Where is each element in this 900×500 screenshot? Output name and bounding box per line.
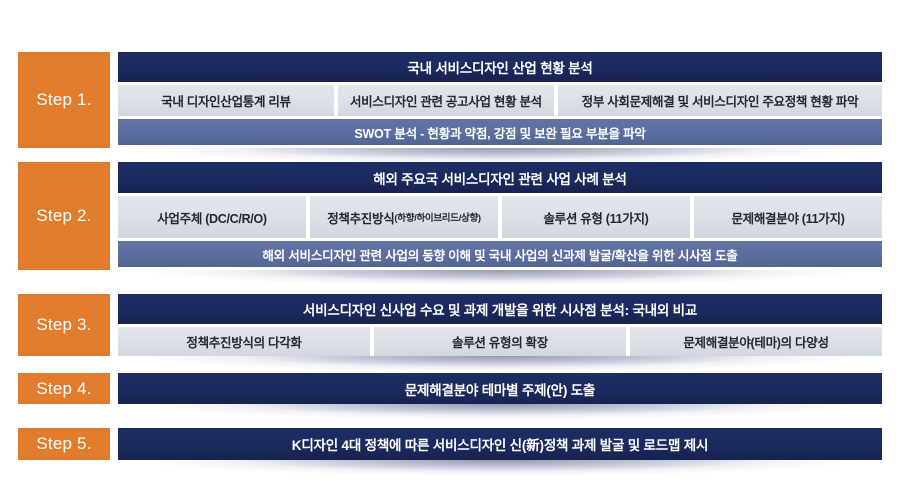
step-header-label-5-hanja: (新) (522, 434, 544, 454)
step-row-5: Step 5. K디자인 4대 정책에 따른 서비스디자인 신(新) 정책 과제… (0, 428, 900, 460)
step-header-label-2: 해외 주요국 서비스디자인 관련 사업 사례 분석 (373, 168, 626, 188)
step-cell-label: 사업주체 (DC/C/R/O) (157, 208, 267, 227)
step-header-label-1: 국내 서비스디자인 산업 현황 분석 (407, 57, 592, 77)
step-footer-label-1: SWOT 분석 - 현황과 약점, 강점 및 보완 필요 부분을 파악 (354, 123, 645, 142)
step-badge-label-1: Step 1. (36, 90, 91, 110)
step-cell-label: 정부 사회문제해결 및 서비스디자인 주요정책 현황 파악 (582, 91, 859, 110)
step-cell[interactable]: 문제해결분야 (11가지) (694, 196, 882, 238)
step-content-3: 서비스디자인 신사업 수요 및 과제 개발을 위한 시사점 분석: 국내외 비교… (118, 294, 882, 356)
group-shadow-2 (118, 270, 882, 292)
step-cell[interactable]: 정책추진방식의 다각화 (118, 327, 370, 356)
step-header-2[interactable]: 해외 주요국 서비스디자인 관련 사업 사례 분석 (118, 162, 882, 193)
step-row-1: Step 1. 국내 서비스디자인 산업 현황 분석 국내 디자인산업통계 리뷰… (0, 52, 900, 148)
step-cell-label: 솔루션 유형 (11가지) (543, 208, 648, 227)
process-diagram: Step 1. 국내 서비스디자인 산업 현황 분석 국내 디자인산업통계 리뷰… (0, 0, 900, 500)
step-row-2: Step 2. 해외 주요국 서비스디자인 관련 사업 사례 분석 사업주체 (… (0, 162, 900, 270)
step-cells-3: 정책추진방식의 다각화 솔루션 유형의 확장 문제해결분야(테마)의 다양성 (118, 327, 882, 356)
step-cell[interactable]: 솔루션 유형의 확장 (374, 327, 626, 356)
group-shadow-5 (118, 460, 882, 482)
step-badge-3[interactable]: Step 3. (18, 294, 110, 356)
step-cell[interactable]: 솔루션 유형 (11가지) (502, 196, 690, 238)
step-cell-label: 정책추진방식 (327, 208, 394, 227)
step-footer-2[interactable]: 해외 서비스디자인 관련 사업의 동향 이해 및 국내 사업의 신과제 발굴/확… (118, 241, 882, 267)
step-row-3: Step 3. 서비스디자인 신사업 수요 및 과제 개발을 위한 시사점 분석… (0, 294, 900, 356)
step-content-1: 국내 서비스디자인 산업 현황 분석 국내 디자인산업통계 리뷰 서비스디자인 … (118, 52, 882, 148)
step-header-4[interactable]: 문제해결분야 테마별 주제(안) 도출 (118, 373, 882, 404)
step-header-1[interactable]: 국내 서비스디자인 산업 현황 분석 (118, 52, 882, 82)
step-badge-2[interactable]: Step 2. (18, 162, 110, 270)
group-shadow-4 (118, 404, 882, 426)
step-content-5: K디자인 4대 정책에 따른 서비스디자인 신(新) 정책 과제 발굴 및 로드… (118, 428, 882, 460)
step-cell[interactable]: 서비스디자인 관련 공고사업 현황 분석 (338, 85, 554, 116)
step-content-4: 문제해결분야 테마별 주제(안) 도출 (118, 373, 882, 404)
step-cells-2: 사업주체 (DC/C/R/O) 정책추진방식(하향/하이브리드/상향) 솔루션 … (118, 196, 882, 238)
step-header-5[interactable]: K디자인 4대 정책에 따른 서비스디자인 신(新) 정책 과제 발굴 및 로드… (118, 428, 882, 460)
step-badge-label-2: Step 2. (36, 206, 91, 226)
step-cell[interactable]: 정책추진방식(하향/하이브리드/상향) (310, 196, 498, 238)
step-cell-sublabel: (하향/하이브리드/상향) (394, 210, 480, 224)
step-content-2: 해외 주요국 서비스디자인 관련 사업 사례 분석 사업주체 (DC/C/R/O… (118, 162, 882, 270)
step-cell[interactable]: 문제해결분야(테마)의 다양성 (630, 327, 882, 356)
step-badge-label-5: Step 5. (36, 434, 91, 454)
step-footer-1[interactable]: SWOT 분석 - 현황과 약점, 강점 및 보완 필요 부분을 파악 (118, 119, 882, 145)
step-footer-label-2: 해외 서비스디자인 관련 사업의 동향 이해 및 국내 사업의 신과제 발굴/확… (262, 245, 737, 264)
step-cell-label: 국내 디자인산업통계 리뷰 (161, 91, 291, 110)
step-header-label-5-suffix: 정책 과제 발굴 및 로드맵 제시 (544, 434, 708, 454)
step-cell-label: 문제해결분야 (11가지) (731, 208, 844, 227)
step-cell-label: 문제해결분야(테마)의 다양성 (683, 332, 828, 351)
step-badge-label-3: Step 3. (36, 315, 91, 335)
step-cell-label: 서비스디자인 관련 공고사업 현황 분석 (350, 91, 542, 110)
step-cell-label: 솔루션 유형의 확장 (452, 332, 548, 351)
step-badge-1[interactable]: Step 1. (18, 52, 110, 148)
step-badge-label-4: Step 4. (36, 379, 91, 399)
step-cells-1: 국내 디자인산업통계 리뷰 서비스디자인 관련 공고사업 현황 분석 정부 사회… (118, 85, 882, 116)
step-cell[interactable]: 정부 사회문제해결 및 서비스디자인 주요정책 현황 파악 (558, 85, 882, 116)
step-row-4: Step 4. 문제해결분야 테마별 주제(안) 도출 (0, 373, 900, 404)
step-badge-5[interactable]: Step 5. (18, 428, 110, 460)
step-header-label-5-prefix: K디자인 4대 정책에 따른 서비스디자인 신 (292, 434, 522, 454)
step-badge-4[interactable]: Step 4. (18, 373, 110, 404)
step-header-label-4: 문제해결분야 테마별 주제(안) 도출 (405, 379, 595, 399)
step-cell[interactable]: 사업주체 (DC/C/R/O) (118, 196, 306, 238)
step-cell[interactable]: 국내 디자인산업통계 리뷰 (118, 85, 334, 116)
step-header-label-3: 서비스디자인 신사업 수요 및 과제 개발을 위한 시사점 분석: 국내외 비교 (303, 299, 697, 319)
step-cell-label: 정책추진방식의 다각화 (186, 332, 301, 351)
step-header-3[interactable]: 서비스디자인 신사업 수요 및 과제 개발을 위한 시사점 분석: 국내외 비교 (118, 294, 882, 324)
